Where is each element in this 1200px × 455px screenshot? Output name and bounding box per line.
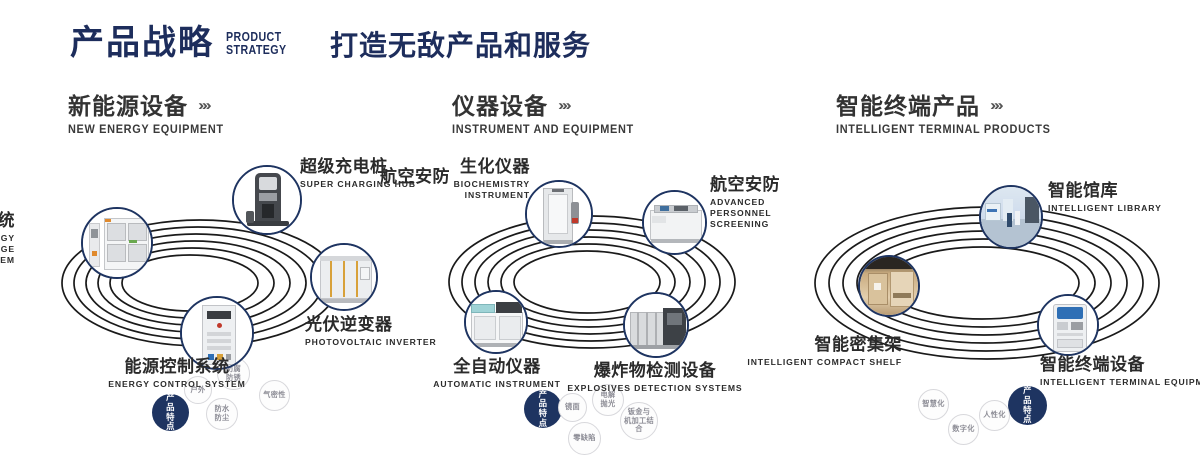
chevrons-right-icon: ›››	[198, 98, 209, 114]
node-explosives-detection-systems[interactable]	[623, 292, 689, 358]
section-heading-new-energy: 新能源设备 ››› NEW ENERGY EQUIPMENT	[68, 94, 232, 136]
charging-pile-icon	[234, 167, 300, 233]
label-energy-storage-system: 储能系统 ENERGY STORAGE SYSTEM	[0, 212, 15, 266]
pv-inverter-cabinet-icon	[312, 245, 376, 309]
label-aviation-security-left: 航空安防	[380, 168, 450, 187]
core-badge-product-features: 产品特点	[1008, 386, 1047, 425]
core-badge-label: 产品特点	[539, 390, 548, 428]
cluster-new-energy: 产品特点 户外 防腐防锈 气密性 防水防尘 储能系统 ENERGY STORAG…	[0, 150, 400, 410]
core-badge-label: 产品特点	[166, 393, 175, 431]
node-super-charging-hub[interactable]	[232, 165, 302, 235]
label-intelligent-compact-shelf: 智能密集架 INTELLIGENT COMPACT SHELF	[712, 336, 902, 368]
feature-pill-sheetmetal-machining: 钣金与机加工结合	[620, 402, 658, 440]
core-badge-label: 产品特点	[1023, 386, 1032, 424]
label-biochemistry-instrument: 生化仪器 BIOCHEMISTRY INSTRUMENT	[450, 158, 530, 201]
section-1-title-en: INSTRUMENT AND EQUIPMENT	[452, 124, 634, 136]
label-intelligent-library: 智能馆库 INTELLIGENT LIBRARY	[1048, 182, 1162, 214]
section-1-title-cn: 仪器设备	[452, 94, 548, 118]
energy-storage-cabinet-icon	[83, 209, 151, 277]
self-service-kiosk-icon	[1039, 296, 1097, 354]
node-intelligent-library[interactable]	[979, 185, 1043, 249]
title-en-line2: STRATEGY	[226, 43, 287, 56]
feature-pill-zero-defect: 零缺陷	[568, 422, 601, 455]
biochemistry-analyzer-icon	[527, 182, 591, 246]
page-subtitle: 打造无敌产品和服务	[330, 32, 591, 60]
feature-pill-mirror-finish: 镜面	[558, 393, 587, 422]
feature-pill-waterproof: 防水防尘	[206, 398, 238, 430]
library-interior-icon	[981, 187, 1041, 247]
node-intelligent-terminal-equipment[interactable]	[1037, 294, 1099, 356]
feature-pill-intelligence: 智慧化	[918, 389, 949, 420]
label-intelligent-terminal-equipment: 智能终端设备 INTELLIGENT TERMINAL EQUIPMENT	[1040, 356, 1200, 388]
section-2-title-en: INTELLIGENT TERMINAL PRODUCTS	[836, 124, 1051, 136]
poster-canvas: 产品战略 PRODUCT STRATEGY 打造无敌产品和服务 新能源设备 ››…	[0, 0, 1200, 422]
label-energy-control-system: 能源控制系统 ENERGY CONTROL SYSTEM	[32, 358, 322, 390]
chevrons-right-icon: ›››	[990, 98, 1001, 114]
feature-pill-digitalization: 数字化	[948, 414, 979, 445]
section-2-title-cn: 智能终端产品	[836, 94, 980, 118]
page-title: 产品战略 PRODUCT STRATEGY	[70, 26, 300, 60]
explosives-detector-icon	[625, 294, 687, 356]
chevrons-right-icon: ›››	[558, 98, 569, 114]
node-intelligent-compact-shelf[interactable]	[858, 255, 920, 317]
title-cn: 产品战略	[70, 26, 214, 60]
cluster-instrument: 产品特点 镜面 电解抛光 钣金与机加工结合 零缺陷 生化仪器 BIOCHEMIS…	[392, 150, 792, 410]
automatic-instrument-icon	[466, 292, 526, 352]
node-photovoltaic-inverter[interactable]	[310, 243, 378, 311]
label-advanced-personnel-screening: 航空安防 ADVANCED PERSONNEL SCREENING	[710, 176, 800, 230]
section-0-title-cn: 新能源设备	[68, 94, 188, 118]
node-biochemistry-instrument[interactable]	[525, 180, 593, 248]
section-heading-instrument: 仪器设备 ››› INSTRUMENT AND EQUIPMENT	[452, 94, 643, 136]
section-heading-intelligent-terminal: 智能终端产品 ››› INTELLIGENT TERMINAL PRODUCTS	[836, 94, 1062, 136]
core-badge-product-features: 产品特点	[524, 390, 562, 428]
cluster-intelligent-terminal: 产品特点 智慧化 数字化 人性化 智能馆库 INTELLIGENT LIBRAR…	[790, 150, 1190, 410]
compact-shelving-icon	[860, 257, 918, 315]
feature-pill-humanization: 人性化	[979, 400, 1010, 431]
node-energy-storage-system[interactable]	[81, 207, 153, 279]
title-en: PRODUCT STRATEGY	[226, 30, 287, 56]
screening-machine-icon	[644, 192, 705, 253]
node-advanced-personnel-screening[interactable]	[642, 190, 707, 255]
core-badge-product-features: 产品特点	[152, 394, 189, 431]
node-automatic-instrument[interactable]	[464, 290, 528, 354]
section-0-title-en: NEW ENERGY EQUIPMENT	[68, 124, 224, 136]
